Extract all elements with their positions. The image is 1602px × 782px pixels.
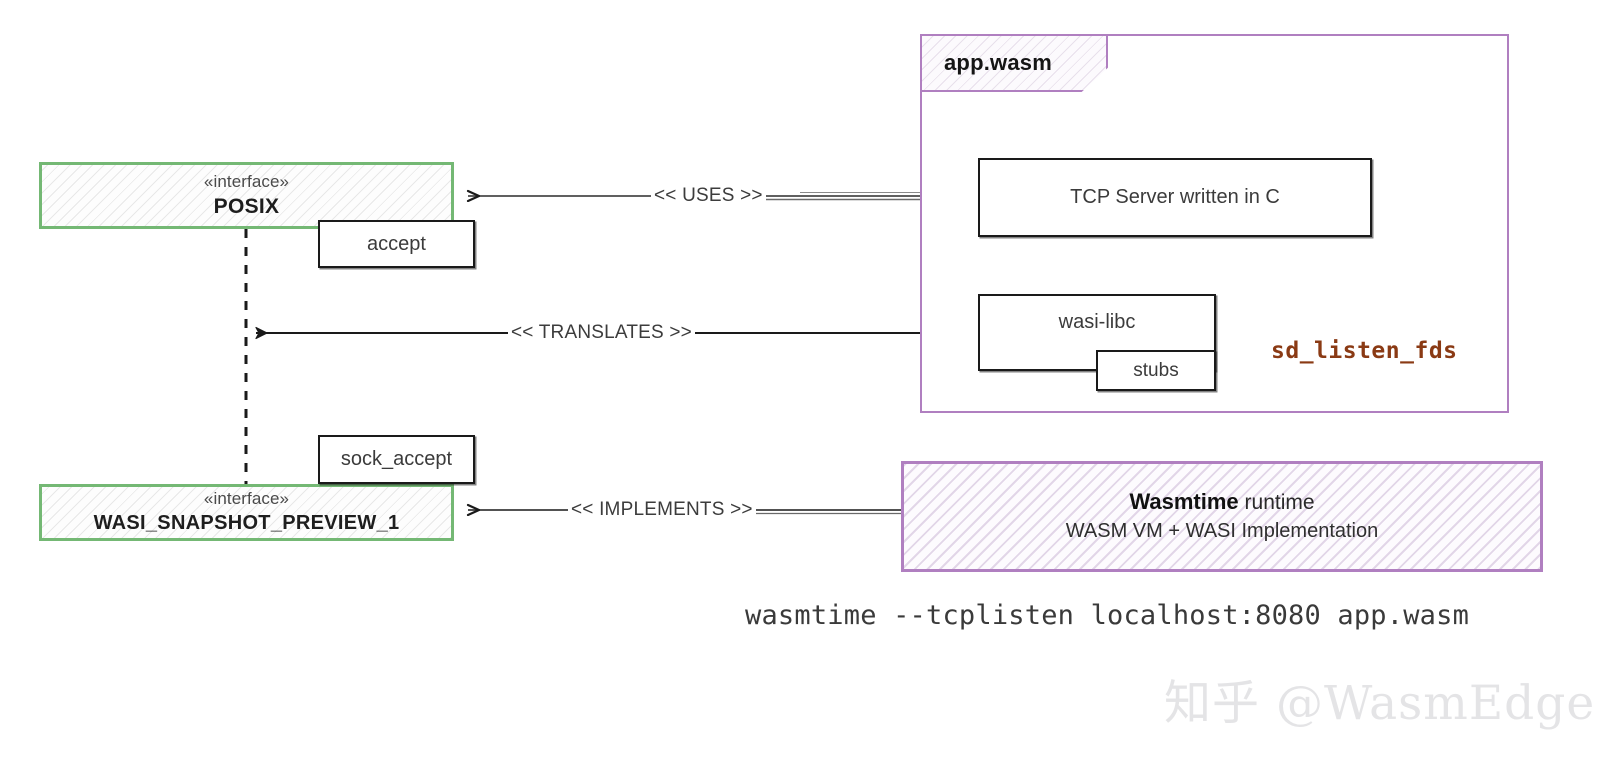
edge-label-translates-text: << TRANSLATES >>: [511, 322, 692, 343]
package-app-wasm-label: app.wasm: [922, 50, 1052, 76]
edge-label-implements: << IMPLEMENTS >>: [568, 499, 756, 521]
edge-label-implements-text: << IMPLEMENTS >>: [571, 499, 753, 520]
command-line-value: wasmtime --tcplisten localhost:8080 app.…: [745, 600, 1469, 631]
package-app-wasm-tab: app.wasm: [920, 34, 1108, 92]
node-wasmtime-runtime[interactable]: Wasmtime runtime WASM VM + WASI Implemen…: [901, 461, 1543, 572]
operation-accept[interactable]: accept: [318, 220, 475, 268]
component-wasi-libc-label: wasi-libc: [1059, 310, 1136, 334]
interface-wasi-snapshot-preview-1[interactable]: «interface» WASI_SNAPSHOT_PREVIEW_1: [39, 484, 454, 541]
interface-posix-name: POSIX: [214, 194, 280, 220]
watermark: 知乎 @WasmEdge: [1164, 664, 1595, 733]
edge-label-uses: << USES >>: [651, 185, 766, 207]
component-stubs[interactable]: stubs: [1096, 350, 1216, 391]
diagram-canvas: app.wasm TCP Server written in C wasi-li…: [0, 0, 1602, 782]
operation-accept-label: accept: [367, 232, 426, 256]
operation-sock-accept-label: sock_accept: [341, 447, 452, 471]
component-tcp-server-label: TCP Server written in C: [1070, 185, 1280, 209]
interface-posix-stereotype: «interface»: [204, 172, 289, 193]
callout-sd-listen-fds: sd_listen_fds: [1271, 338, 1458, 364]
interface-wasi-stereotype: «interface»: [204, 489, 289, 510]
runtime-name: Wasmtime: [1129, 489, 1238, 514]
watermark-text: 知乎 @WasmEdge: [1164, 676, 1595, 731]
operation-sock-accept[interactable]: sock_accept: [318, 435, 475, 484]
callout-sd-listen-fds-label: sd_listen_fds: [1271, 338, 1458, 364]
component-stubs-label: stubs: [1133, 359, 1178, 382]
runtime-description: WASM VM + WASI Implementation: [1066, 519, 1379, 543]
edge-label-uses-text: << USES >>: [654, 185, 763, 206]
edge-label-translates: << TRANSLATES >>: [508, 322, 695, 344]
interface-wasi-name: WASI_SNAPSHOT_PREVIEW_1: [94, 511, 400, 535]
runtime-name-suffix: runtime: [1245, 491, 1315, 514]
command-line-text: wasmtime --tcplisten localhost:8080 app.…: [745, 600, 1469, 631]
runtime-title-line: Wasmtime runtime: [1129, 489, 1314, 516]
component-tcp-server[interactable]: TCP Server written in C: [978, 158, 1372, 237]
interface-posix[interactable]: «interface» POSIX: [39, 162, 454, 229]
